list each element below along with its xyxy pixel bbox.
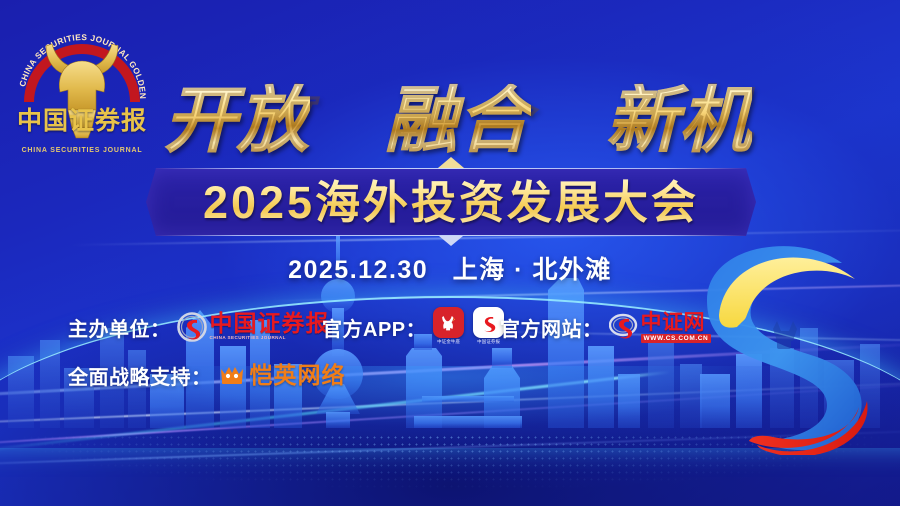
chevron-up-icon xyxy=(438,157,464,168)
app-icon-list: 中证金牛座 中国证券报 xyxy=(432,307,505,347)
strategic-support-row: 全面战略支持： 恺英网络 xyxy=(68,358,346,392)
event-date: 2025.12.30 xyxy=(288,256,428,284)
app-item[interactable]: 中证金牛座 xyxy=(432,307,465,347)
csj-name-en: CHINA SECURITIES JOURNAL xyxy=(210,335,330,341)
app-caption: 中证金牛座 xyxy=(437,339,460,345)
event-location: 上海 · 北外滩 xyxy=(453,256,612,284)
organizer-label: 主办单位： xyxy=(68,313,171,342)
conference-banner: CHINA SECURITIES JOURNAL GOLDEN BULL AWA… xyxy=(0,0,900,506)
kingnet-name: 恺英网络 xyxy=(250,364,346,387)
chevron-down-icon xyxy=(439,236,463,246)
streak-line xyxy=(0,427,900,468)
kingnet-crown-icon xyxy=(218,363,246,387)
dateline: 2025.12.30 上海 · 北外滩 xyxy=(0,250,900,286)
conference-title: 2025海外投资发展大会 xyxy=(146,168,756,236)
headline-word-2: 融合 xyxy=(385,84,531,156)
seal-title-en: CHINA SECURITIES JOURNAL xyxy=(22,147,143,154)
cs-url: WWW.CS.COM.CN xyxy=(641,334,712,343)
csj-logo[interactable]: 中国证券报 CHINA SECURITIES JOURNAL xyxy=(177,312,330,342)
subtitle-band: 2025海外投资发展大会 xyxy=(146,168,756,236)
official-site-row: 官方网站： 中证网 WWW.CS.COM.CN xyxy=(500,310,711,344)
headline-word-3: 新机 xyxy=(606,84,752,156)
golden-bull-award-seal: CHINA SECURITIES JOURNAL GOLDEN BULL AWA… xyxy=(8,6,156,158)
cs-swoosh-icon xyxy=(609,312,639,342)
official-app-row: 官方APP： 中证金牛座 xyxy=(322,310,505,344)
csj-swoosh-icon xyxy=(177,312,207,342)
app-caption: 中国证券报 xyxy=(477,339,500,345)
cs-site-logo[interactable]: 中证网 WWW.CS.COM.CN xyxy=(609,311,712,343)
halftone-dots xyxy=(0,434,900,506)
strategic-support-label: 全面战略支持： xyxy=(68,361,212,390)
csj-name-cn: 中国证券报 xyxy=(210,312,330,335)
organizer-row: 主办单位： 中国证券报 CHINA SECURITIES JOURNAL xyxy=(68,310,330,344)
kingnet-logo[interactable]: 恺英网络 xyxy=(218,363,346,387)
headline: 开放 融合 新机 xyxy=(158,74,758,166)
official-site-label: 官方网站： xyxy=(500,313,603,342)
golden-bull-app-icon xyxy=(433,307,464,338)
official-app-label: 官方APP： xyxy=(322,313,426,342)
seal-title-cn: 中国证券报 xyxy=(8,108,156,133)
cs-name-cn: 中证网 xyxy=(641,311,712,333)
headline-word-1: 开放 xyxy=(164,84,310,156)
